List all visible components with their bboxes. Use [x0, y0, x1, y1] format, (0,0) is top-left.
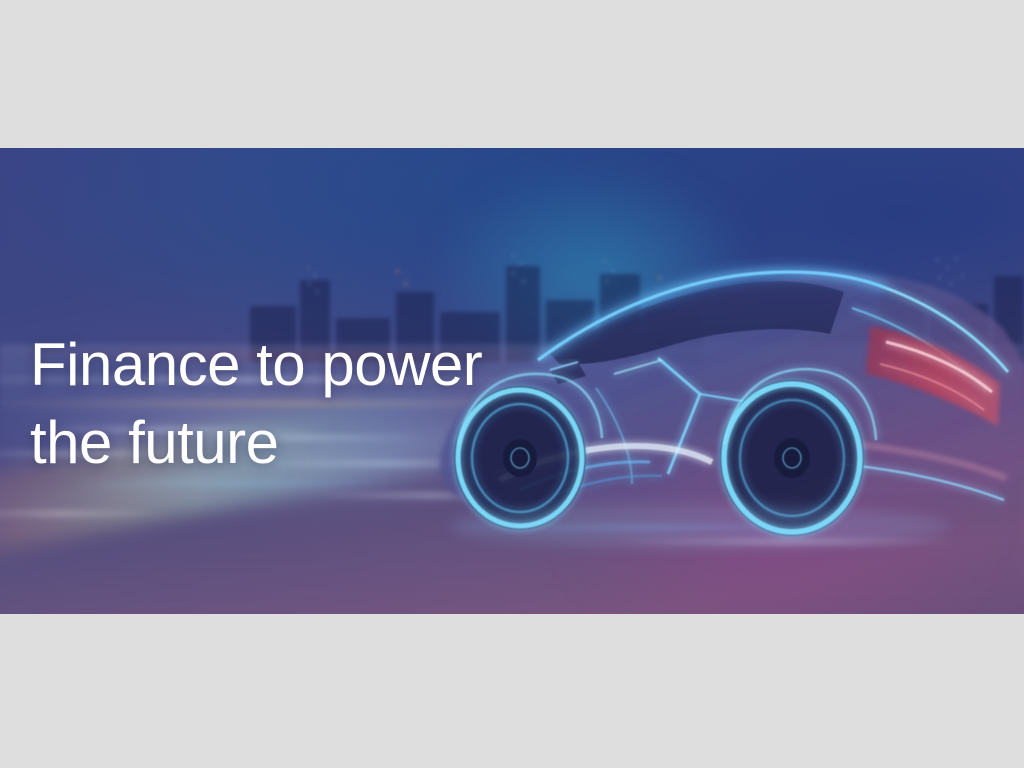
- sports-car-icon: [400, 158, 1024, 588]
- page-title: Finance to power the future: [30, 326, 482, 482]
- advertising-banner: Finance to power the future Credit is su…: [0, 148, 1024, 614]
- page-canvas: Finance to power the future Credit is su…: [0, 0, 1024, 768]
